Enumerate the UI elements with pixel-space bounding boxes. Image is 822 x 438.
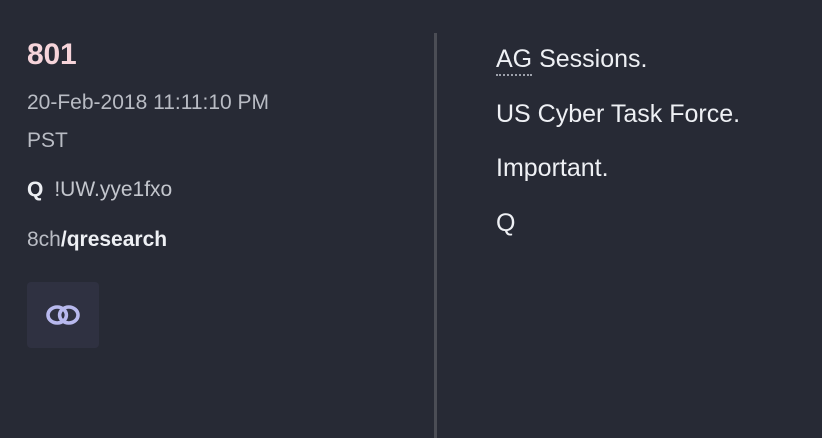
- post-author: Q!UW.yye1fxo: [27, 178, 434, 202]
- board-name: /qresearch: [61, 228, 167, 251]
- post-board: 8ch/qresearch: [27, 228, 434, 252]
- author-name: Q: [27, 178, 43, 201]
- post-timestamp: 20-Feb-2018 11:11:10 PM: [27, 92, 434, 114]
- body-line-1-rest: Sessions.: [532, 45, 647, 73]
- body-line-3: Important.: [496, 155, 808, 182]
- post-card: 801 20-Feb-2018 11:11:10 PM PST Q!UW.yye…: [0, 0, 822, 438]
- abbreviation-ag: AG: [496, 45, 532, 76]
- body-line-1: AG Sessions.: [496, 46, 808, 73]
- post-metadata-column: 801 20-Feb-2018 11:11:10 PM PST Q!UW.yye…: [0, 0, 434, 438]
- post-body-column: AG Sessions. US Cyber Task Force. Import…: [434, 0, 822, 438]
- author-tripcode: !UW.yye1fxo: [54, 178, 172, 201]
- link-icon: [46, 304, 80, 326]
- body-line-2: US Cyber Task Force.: [496, 101, 808, 128]
- body-line-4: Q: [496, 210, 808, 237]
- post-number: 801: [27, 40, 434, 70]
- post-timezone: PST: [27, 130, 434, 152]
- column-divider: [434, 33, 437, 438]
- board-site: 8ch: [27, 228, 61, 251]
- copy-link-button[interactable]: [27, 282, 99, 348]
